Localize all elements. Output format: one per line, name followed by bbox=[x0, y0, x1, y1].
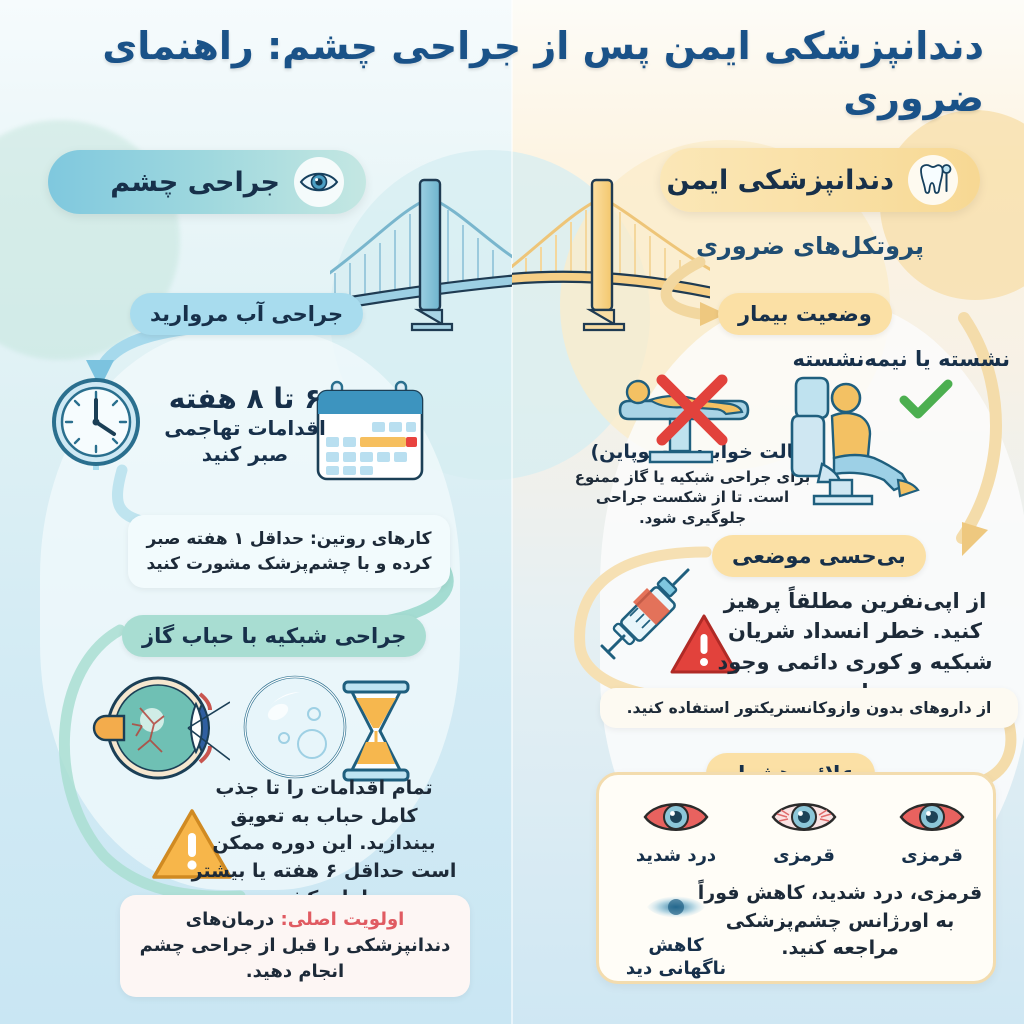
right-header-label: دندانپزشکی ایمن bbox=[666, 165, 894, 196]
warning-sign-item: درد شدید bbox=[621, 797, 731, 868]
bloodshot-eye-icon bbox=[769, 797, 839, 837]
painful-eye-icon bbox=[641, 797, 711, 837]
section-pill-retina[interactable]: جراحی شبکیه با حباب گاز bbox=[122, 615, 426, 657]
gas-bubble-guidance-text: تمام اقدامات را تا جذب کامل حباب به تعوی… bbox=[190, 775, 458, 913]
eye-icon bbox=[294, 157, 344, 207]
warning-sign-label: قرمزی bbox=[877, 845, 987, 868]
section-pill-local-anesthesia[interactable]: بی‌حسی موضعی bbox=[712, 535, 926, 577]
green-check-icon bbox=[898, 378, 954, 422]
right-panel-header: دندانپزشکی ایمن bbox=[660, 148, 980, 212]
dental-chair-supine-icon bbox=[610, 370, 770, 486]
warning-sign-item: قرمزی bbox=[749, 797, 859, 868]
vasoconstrictor-note: از داروهای بدون وازوکانستریکتور استفاده … bbox=[600, 688, 1018, 728]
warning-sign-item: قرمزی bbox=[877, 797, 987, 868]
wait-duration-number: ۶ تا ۸ هفته bbox=[150, 383, 340, 415]
main-priority-note: اولویت اصلی: درمان‌های دندانپزشکی را قبل… bbox=[120, 895, 470, 997]
hourglass-icon bbox=[330, 676, 422, 786]
warning-sign-label: درد شدید bbox=[621, 845, 731, 868]
left-panel-header: جراحی چشم bbox=[48, 150, 366, 214]
main-priority-accent: اولویت اصلی: bbox=[281, 909, 405, 930]
routine-care-note: کارهای روتین: حداقل ۱ هفته صبر کرده و با… bbox=[128, 515, 450, 588]
page-title: دندانپزشکی ایمن پس از جراحی چشم: راهنمای… bbox=[40, 20, 984, 125]
right-panel-subtitle: پروتکل‌های ضروری bbox=[640, 232, 980, 260]
emergency-instruction-text: قرمزی، درد شدید، کاهش فوراً به اورژانس چ… bbox=[690, 880, 990, 963]
eye-anatomy-icon bbox=[80, 668, 230, 788]
wait-duration-label-1: اقدامات تهاجمی bbox=[150, 415, 340, 441]
infographic-canvas: جراحی چشم دندانپزشکی ایمن پروتکل‌های ضرو… bbox=[0, 0, 1024, 1024]
clock-icon bbox=[48, 370, 144, 480]
section-pill-patient-position[interactable]: وضعیت بیمار bbox=[718, 293, 892, 335]
tooth-icon bbox=[908, 155, 958, 205]
wait-duration-stat: ۶ تا ۸ هفته اقدامات تهاجمی صبر کنید bbox=[150, 383, 340, 467]
section-pill-cataract[interactable]: جراحی آب مروارید bbox=[130, 293, 363, 335]
red-eye-icon bbox=[897, 797, 967, 837]
warning-sign-label: قرمزی bbox=[749, 845, 859, 868]
left-header-label: جراحی چشم bbox=[110, 167, 280, 198]
wait-duration-label-2: صبر کنید bbox=[150, 441, 340, 467]
